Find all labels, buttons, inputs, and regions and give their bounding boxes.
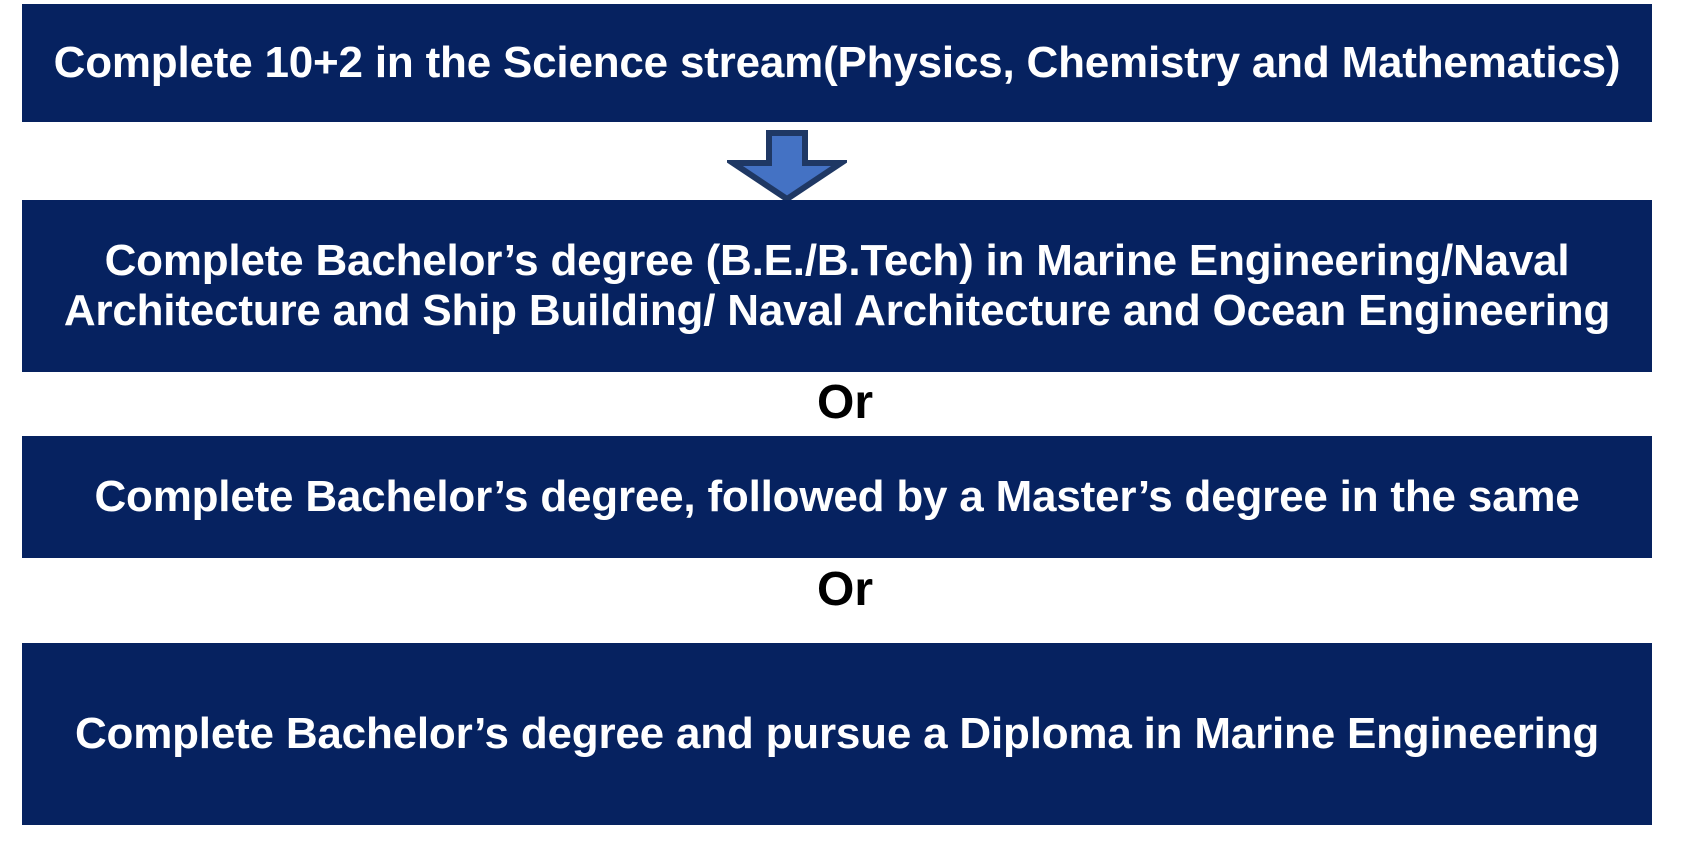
separator-or-1: Or [0,379,1690,427]
separator-or-1-label: Or [817,376,873,429]
separator-or-2-label: Or [817,563,873,616]
down-arrow-icon [727,130,847,202]
flow-node-step-2-option-c-label: Complete Bachelor’s degree and pursue a … [32,709,1642,759]
flowchart-canvas: Complete 10+2 in the Science stream(Phys… [0,0,1690,841]
flow-node-step-2-option-a: Complete Bachelor’s degree (B.E./B.Tech)… [22,200,1652,372]
flow-node-step-2-option-a-label: Complete Bachelor’s degree (B.E./B.Tech)… [32,236,1642,335]
flow-node-step-2-option-b-label: Complete Bachelor’s degree, followed by … [32,472,1642,522]
flow-node-step-1: Complete 10+2 in the Science stream(Phys… [22,4,1652,122]
flow-node-step-1-label: Complete 10+2 in the Science stream(Phys… [32,38,1642,88]
separator-or-2: Or [0,566,1690,614]
flow-node-step-2-option-c: Complete Bachelor’s degree and pursue a … [22,643,1652,825]
flow-node-step-2-option-b: Complete Bachelor’s degree, followed by … [22,436,1652,558]
